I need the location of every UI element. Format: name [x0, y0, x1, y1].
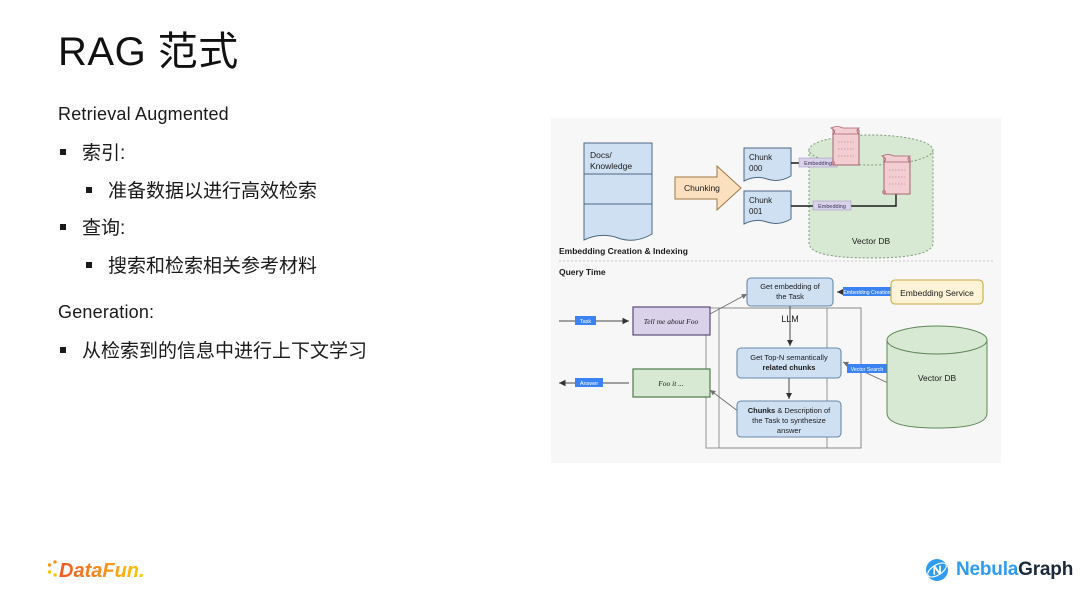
- vector-db-indexing-node: Vector DB: [809, 135, 933, 258]
- vector-db-indexing-label: Vector DB: [852, 236, 891, 246]
- answer-label: Foo it ...: [657, 379, 684, 388]
- vector-record-scroll-a-icon: [831, 127, 859, 166]
- bullet-sublist-query: 搜索和检索相关参考材料: [82, 254, 528, 280]
- vector-db-query-label: Vector DB: [918, 373, 957, 383]
- list-item-label: 查询:: [82, 218, 125, 239]
- bullet-square-icon: [60, 149, 66, 155]
- bullet-square-icon: [86, 262, 92, 268]
- vector-record-scroll-b-icon: [882, 155, 910, 195]
- subhead-retrieval-augmented: Retrieval Augmented: [58, 104, 528, 125]
- datafun-logo-mark-icon: DataFun.: [46, 556, 154, 584]
- chunk-000-label-line1: Chunk: [749, 153, 773, 162]
- list-item-index-detail: 准备数据以进行高效检索: [82, 179, 528, 205]
- datafun-logo: DataFun.: [46, 556, 154, 584]
- nebulagraph-wordmark-graph: Graph: [1018, 559, 1073, 580]
- docs-knowledge-node: Docs/ Knowledge: [584, 143, 652, 240]
- edge-label-vector-search: Vector Search: [851, 367, 884, 373]
- list-item-in-context-learning: 从检索到的信息中进行上下文学习: [58, 339, 528, 365]
- edge-label-embedding-1: Embedding: [804, 161, 832, 167]
- diagram-canvas: Docs/ Knowledge Chunking Vector DB Chunk…: [551, 118, 1001, 463]
- chunk-001-label-line2: 001: [749, 207, 763, 216]
- edge-label-embedding-creation: Embedding Creation: [843, 290, 890, 296]
- edge-embedding-creation: Embedding Creation: [837, 287, 891, 296]
- list-item-query-detail: 搜索和检索相关参考材料: [82, 254, 528, 280]
- chunk-001-node: Chunk 001: [744, 191, 791, 224]
- list-item-query: 查询: 搜索和检索相关参考材料: [58, 216, 528, 279]
- vector-db-query-node: Vector DB: [887, 326, 987, 428]
- embedding-service-node: Embedding Service: [891, 280, 983, 304]
- synthesize-label-line3: answer: [777, 426, 802, 435]
- chunk-000-label-line2: 000: [749, 164, 763, 173]
- section-label-query: Query Time: [559, 267, 606, 277]
- bullet-list-primary: 索引: 准备数据以进行高效检索 查询: 搜索和检索相关参考材料: [58, 141, 528, 280]
- get-topn-label-line2: related chunks: [763, 363, 816, 372]
- bullet-square-icon: [60, 224, 66, 230]
- answer-node: Foo it ...: [633, 369, 710, 397]
- synthesize-label-line1: Chunks & Description of: [748, 406, 831, 415]
- synthesize-answer-node: Chunks & Description of the Task to synt…: [737, 401, 841, 437]
- edge-label-answer: Answer: [580, 381, 599, 387]
- bullet-list-generation: 从检索到的信息中进行上下文学习: [58, 339, 528, 365]
- edge-label-task: Task: [580, 319, 592, 325]
- chunking-label: Chunking: [684, 183, 720, 193]
- section-label-indexing: Embedding Creation & Indexing: [559, 246, 688, 256]
- bullet-sublist-index: 准备数据以进行高效检索: [82, 179, 528, 205]
- nebulagraph-logo: NebulaGraph: [925, 556, 1073, 584]
- get-topn-label-line1: Get Top-N semantically: [750, 353, 828, 362]
- list-item-index: 索引: 准备数据以进行高效检索: [58, 141, 528, 204]
- edge-label-embedding-2: Embedding: [818, 204, 846, 210]
- list-item-label: 从检索到的信息中进行上下文学习: [82, 341, 367, 362]
- list-item-label: 索引:: [82, 143, 125, 164]
- bullet-square-icon: [60, 347, 66, 353]
- bullet-square-icon: [86, 187, 92, 193]
- task-prompt-node: Tell me about Foo: [633, 307, 710, 335]
- list-item-label: 准备数据以进行高效检索: [108, 181, 317, 202]
- list-item-label: 搜索和检索相关参考材料: [108, 256, 317, 277]
- get-topn-chunks-node: Get Top-N semantically related chunks: [737, 348, 841, 378]
- chunk-000-node: Chunk 000: [744, 148, 791, 181]
- nebulagraph-mark-icon: [925, 558, 949, 582]
- embedding-service-label: Embedding Service: [900, 288, 974, 298]
- slide-text-column: RAG 范式 Retrieval Augmented 索引: 准备数据以进行高效…: [58, 30, 528, 376]
- page-title: RAG 范式: [58, 30, 528, 74]
- synthesize-label-chunks: Chunks: [748, 406, 776, 415]
- synthesize-label-rest: & Description of: [775, 406, 831, 415]
- chunk-001-label-line1: Chunk: [749, 196, 773, 205]
- datafun-wordmark: DataFun.: [59, 560, 145, 582]
- nebulagraph-wordmark: NebulaGraph: [956, 559, 1073, 581]
- get-embedding-label-line1: Get embedding of: [760, 282, 821, 291]
- slide-root: RAG 范式 Retrieval Augmented 索引: 准备数据以进行高效…: [0, 0, 1080, 608]
- task-prompt-label: Tell me about Foo: [644, 317, 699, 326]
- rag-architecture-diagram: Docs/ Knowledge Chunking Vector DB Chunk…: [551, 118, 1001, 463]
- get-embedding-label-line2: the Task: [776, 292, 804, 301]
- get-embedding-node: Get embedding of the Task: [747, 278, 833, 306]
- synthesize-label-line2: the Task to synthesize: [752, 416, 826, 425]
- docs-knowledge-label-line1: Docs/: [590, 150, 612, 160]
- subhead-generation: Generation:: [58, 302, 528, 323]
- docs-knowledge-label-line2: Knowledge: [590, 161, 632, 171]
- nebulagraph-wordmark-nebula: Nebula: [956, 559, 1018, 580]
